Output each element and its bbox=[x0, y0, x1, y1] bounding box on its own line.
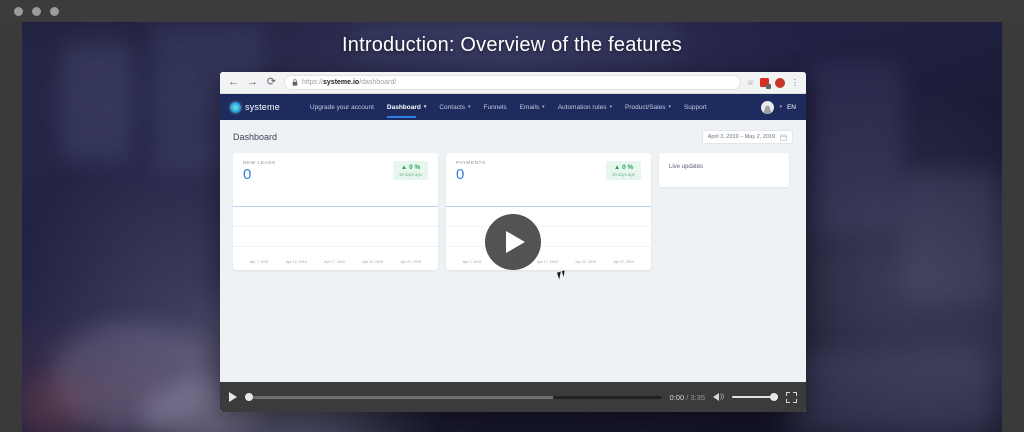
avatar[interactable] bbox=[761, 101, 774, 114]
nav-label: Dashboard bbox=[387, 104, 421, 111]
new-leads-chart: Apr 7, 2019 Apr 12, 2019 Apr 17, 2019 Ap… bbox=[233, 198, 438, 270]
stat-value: 0 bbox=[456, 167, 486, 183]
mouse-cursor-icon bbox=[557, 272, 563, 280]
chevron-down-icon: ▾ bbox=[668, 104, 671, 110]
maximize-icon[interactable] bbox=[50, 7, 59, 16]
language-selector[interactable]: EN bbox=[787, 104, 796, 111]
progress-buffered bbox=[553, 396, 661, 399]
chart-tick-label: Apr 17, 2019 bbox=[537, 260, 558, 264]
chart-x-axis: Apr 7, 2019 Apr 12, 2019 Apr 17, 2019 Ap… bbox=[446, 260, 651, 264]
browser-chrome: ← → ⟳ https://systeme.io/dashboard/ ☆ ⋮ bbox=[220, 72, 806, 94]
chart-tick-label: Apr 27, 2019 bbox=[614, 260, 635, 264]
nav-label: Emails bbox=[520, 104, 540, 111]
bookmark-star-icon[interactable]: ☆ bbox=[747, 78, 754, 87]
os-window: Introduction: Overview of the features ←… bbox=[0, 0, 1024, 432]
stat-card-header: PAYMENTS 0 ▲ 0 % 30 days ago bbox=[446, 153, 651, 183]
stat-card-new-leads: NEW LEADS 0 ▲ 0 % 30 days ago bbox=[233, 153, 438, 270]
progress-bar[interactable] bbox=[245, 392, 662, 402]
video-controls-bar: 0:00 / 3:35 )) bbox=[220, 382, 806, 412]
chart-gridline bbox=[233, 226, 438, 227]
chart-data-line bbox=[446, 206, 651, 207]
chart-data-line bbox=[233, 206, 438, 207]
nav-item-funnels[interactable]: Funnels bbox=[484, 98, 507, 117]
url-text: https://systeme.io/dashboard/ bbox=[302, 79, 396, 86]
badge-subtext: 30 days ago bbox=[399, 172, 422, 177]
play-overlay-button[interactable] bbox=[485, 214, 541, 270]
stat-card-text: NEW LEADS 0 bbox=[243, 161, 276, 183]
page-title: Dashboard bbox=[233, 132, 277, 142]
chart-gridline bbox=[446, 226, 651, 227]
stat-value: 0 bbox=[243, 167, 276, 183]
nav-label: Product/Sales bbox=[625, 104, 665, 111]
date-range-text: April 3, 2019 – May 2, 2019 bbox=[708, 134, 775, 140]
live-updates-card: Live updates bbox=[659, 153, 789, 187]
play-icon bbox=[506, 231, 525, 253]
back-icon[interactable]: ← bbox=[227, 77, 240, 88]
chart-gridline bbox=[446, 246, 651, 247]
background-blur-shape bbox=[22, 382, 82, 432]
sound-wave-shape: )) bbox=[720, 394, 724, 400]
volume-handle[interactable] bbox=[770, 393, 778, 401]
app-logo[interactable]: systeme bbox=[230, 102, 280, 113]
chart-tick-label: Apr 27, 2019 bbox=[401, 260, 422, 264]
video-title: Introduction: Overview of the features bbox=[22, 34, 1002, 57]
status-badge: ▲ 0 % 30 days ago bbox=[393, 161, 428, 180]
speaker-shape bbox=[713, 393, 719, 401]
background-blur-shape bbox=[782, 352, 992, 432]
background-blur-shape bbox=[902, 172, 997, 302]
chevron-down-icon: ▾ bbox=[542, 104, 545, 110]
nav-item-support[interactable]: Support bbox=[684, 98, 707, 117]
time-display: 0:00 / 3:35 bbox=[670, 393, 705, 402]
profile-avatar-icon[interactable] bbox=[775, 78, 785, 88]
current-time: 0:00 bbox=[670, 393, 685, 402]
video-stage[interactable]: Introduction: Overview of the features ←… bbox=[22, 22, 1002, 432]
systeme-logo-icon bbox=[230, 102, 241, 113]
nav-item-product-sales[interactable]: Product/Sales▾ bbox=[625, 98, 671, 117]
payments-chart: Apr 7, 2019 Apr 12, 2019 Apr 17, 2019 Ap… bbox=[446, 198, 651, 270]
volume-slider[interactable] bbox=[732, 393, 778, 401]
app-navbar: systeme Upgrade your account Dashboard▾ … bbox=[220, 94, 806, 120]
nav-label: Contacts bbox=[439, 104, 465, 111]
live-updates-title: Live updates bbox=[669, 164, 779, 170]
lock-icon bbox=[292, 79, 298, 86]
nav-item-contacts[interactable]: Contacts▾ bbox=[439, 98, 470, 117]
badge-value: ▲ 0 % bbox=[399, 164, 422, 171]
play-button[interactable] bbox=[229, 392, 237, 402]
nav-item-automation-rules[interactable]: Automation rules▾ bbox=[558, 98, 612, 117]
browser-window: ← → ⟳ https://systeme.io/dashboard/ ☆ ⋮ bbox=[220, 72, 806, 412]
chevron-down-icon[interactable]: ▾ bbox=[779, 104, 782, 110]
close-icon[interactable] bbox=[14, 7, 23, 16]
chevron-down-icon: ▾ bbox=[468, 104, 471, 110]
chart-tick-label: Apr 12, 2019 bbox=[286, 260, 307, 264]
navbar-right: ▾ EN bbox=[761, 101, 796, 114]
chevron-down-icon: ▾ bbox=[609, 104, 612, 110]
chart-tick-label: Apr 17, 2019 bbox=[324, 260, 345, 264]
badge-value: ▲ 0 % bbox=[612, 164, 635, 171]
badge-subtext: 30 days ago bbox=[612, 172, 635, 177]
minimize-icon[interactable] bbox=[32, 7, 41, 16]
background-blur-shape bbox=[62, 42, 132, 162]
date-range-picker[interactable]: April 3, 2019 – May 2, 2019 bbox=[702, 130, 793, 144]
nav-label: Automation rules bbox=[558, 104, 607, 111]
app-logo-text: systeme bbox=[245, 102, 280, 112]
forward-icon[interactable]: → bbox=[246, 77, 259, 88]
stat-card-text: PAYMENTS 0 bbox=[456, 161, 486, 183]
window-titlebar bbox=[0, 0, 1024, 22]
stat-card-header: NEW LEADS 0 ▲ 0 % 30 days ago bbox=[233, 153, 438, 183]
status-badge: ▲ 0 % 30 days ago bbox=[606, 161, 641, 180]
nav-label: Funnels bbox=[484, 104, 507, 111]
reload-icon[interactable]: ⟳ bbox=[265, 77, 278, 88]
volume-icon[interactable]: )) bbox=[713, 393, 724, 401]
chart-tick-label: Apr 7, 2019 bbox=[250, 260, 269, 264]
fullscreen-icon[interactable] bbox=[786, 392, 797, 403]
chevron-down-icon: ▾ bbox=[424, 104, 427, 110]
nav-label: Upgrade your account bbox=[310, 104, 374, 111]
chart-gridline bbox=[233, 246, 438, 247]
extension-icon[interactable] bbox=[760, 78, 769, 87]
progress-handle[interactable] bbox=[245, 393, 253, 401]
chart-tick-label: Apr 7, 2019 bbox=[463, 260, 482, 264]
chart-tick-label: Apr 22, 2019 bbox=[575, 260, 596, 264]
calendar-icon bbox=[780, 134, 787, 141]
chart-tick-label: Apr 22, 2019 bbox=[362, 260, 383, 264]
chart-x-axis: Apr 7, 2019 Apr 12, 2019 Apr 17, 2019 Ap… bbox=[233, 260, 438, 264]
nav-item-upgrade[interactable]: Upgrade your account bbox=[310, 98, 374, 117]
nav-label: Support bbox=[684, 104, 707, 111]
duration: 3:35 bbox=[690, 393, 705, 402]
nav-item-emails[interactable]: Emails▾ bbox=[520, 98, 545, 117]
background-blur-shape bbox=[812, 62, 902, 232]
page-header: Dashboard April 3, 2019 – May 2, 2019 bbox=[233, 130, 793, 144]
stat-card-payments: PAYMENTS 0 ▲ 0 % 30 days ago bbox=[446, 153, 651, 270]
nav-item-dashboard[interactable]: Dashboard▾ bbox=[387, 98, 426, 117]
browser-menu-icon[interactable]: ⋮ bbox=[791, 78, 799, 87]
address-bar[interactable]: https://systeme.io/dashboard/ bbox=[284, 75, 741, 90]
